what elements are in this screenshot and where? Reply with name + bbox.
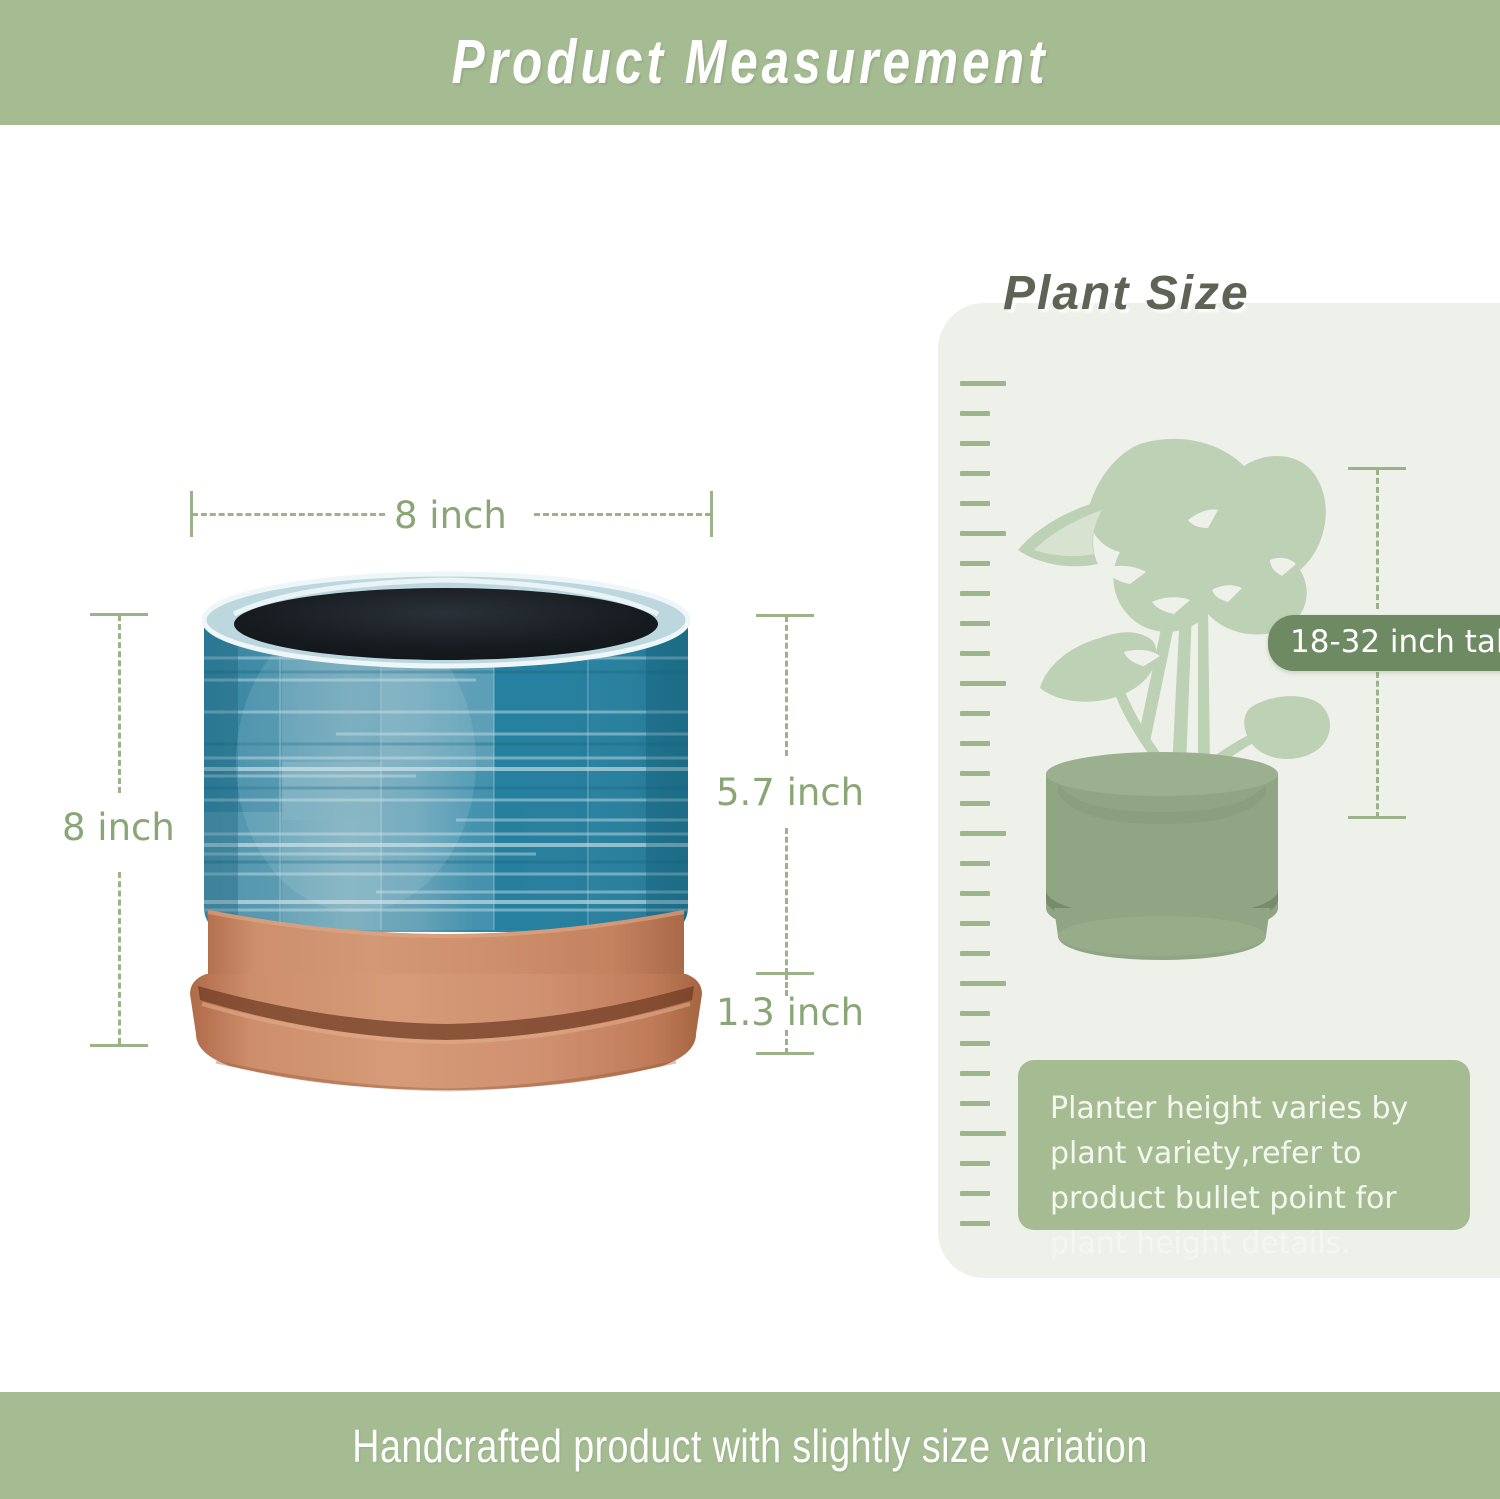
total-height-bottom-cap: [90, 1044, 148, 1047]
top-banner: Product Measurement: [0, 0, 1500, 125]
bottom-banner: Handcrafted product with slightly size v…: [0, 1392, 1500, 1499]
plant-height-note: Planter height varies by plant variety,r…: [1018, 1060, 1470, 1230]
plant-height-badge: 18-32 inch tall: [1268, 615, 1500, 671]
plant-height-line-top: [1376, 469, 1379, 609]
planter-product-photo: [176, 562, 716, 1102]
width-dim-line-left: [192, 513, 385, 516]
total-height-line-bottom: [118, 872, 121, 1044]
page-title: Product Measurement: [452, 27, 1049, 98]
plant-height-line-bottom: [1376, 672, 1379, 818]
footer-text: Handcrafted product with slightly size v…: [352, 1419, 1147, 1473]
plant-illustration: [1012, 438, 1362, 983]
saucer-height-label: 1.3 inch: [716, 991, 864, 1034]
total-height-line-top: [118, 615, 121, 793]
total-height-label: 8 inch: [62, 806, 175, 849]
width-dim-line-right: [534, 513, 711, 516]
plant-size-heading: Plant Size: [1003, 266, 1250, 321]
body-height-line-bottom: [785, 828, 788, 974]
width-dimension-label: 8 inch: [394, 494, 507, 537]
body-height-label: 5.7 inch: [716, 771, 864, 814]
body-height-line-top: [785, 616, 788, 756]
